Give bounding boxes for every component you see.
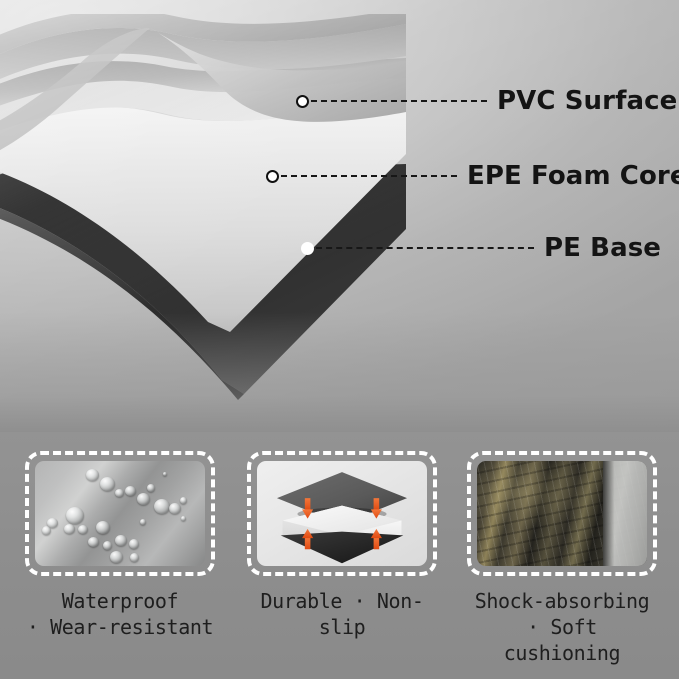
feature-caption: Durable · Non-slip (244, 588, 440, 640)
exploded-layers-compression-icon (257, 461, 427, 566)
callout-marker-dot-icon (301, 242, 314, 255)
callout-leader-line (311, 100, 487, 102)
feature-caption: Shock-absorbing · Soft cushioning (464, 588, 660, 666)
layer-construction-illustration (0, 14, 406, 414)
callout-marker-dot-icon (266, 170, 279, 183)
callout-pe: PE Base (301, 236, 661, 260)
callout-pvc: PVC Surface (296, 89, 677, 113)
feature-item-waterproof: Waterproof · Wear-resistant (22, 451, 218, 640)
hero-section: PVC Surface EPE Foam Core PE Base (0, 0, 679, 432)
callout-marker-dot-icon (296, 95, 309, 108)
crumpled-dark-material-icon (477, 461, 647, 566)
feature-caption: Waterproof · Wear-resistant (27, 588, 213, 640)
feature-item-durable: Durable · Non-slip (244, 451, 440, 640)
feature-thumbnail-frame (247, 451, 437, 576)
callout-leader-line (281, 175, 457, 177)
callout-label-epe: EPE Foam Core (467, 163, 679, 189)
feature-thumbnail-frame (467, 451, 657, 576)
feature-item-shock-absorbing: Shock-absorbing · Soft cushioning (464, 451, 660, 666)
water-droplets-on-fabric-icon (35, 461, 205, 566)
crumple-light-strip (603, 461, 647, 566)
callout-epe: EPE Foam Core (266, 164, 679, 188)
bottom-plate (281, 532, 404, 564)
infographic-root: PVC Surface EPE Foam Core PE Base (0, 0, 679, 679)
exploded-layers-svg (257, 461, 427, 566)
callout-label-pe: PE Base (544, 235, 661, 261)
fabric-backdrop (35, 461, 205, 566)
callout-leader-line (316, 247, 534, 249)
feature-panels-section: Waterproof · Wear-resistant (0, 432, 679, 679)
callout-label-pvc: PVC Surface (497, 88, 677, 114)
feature-thumbnail-frame (25, 451, 215, 576)
